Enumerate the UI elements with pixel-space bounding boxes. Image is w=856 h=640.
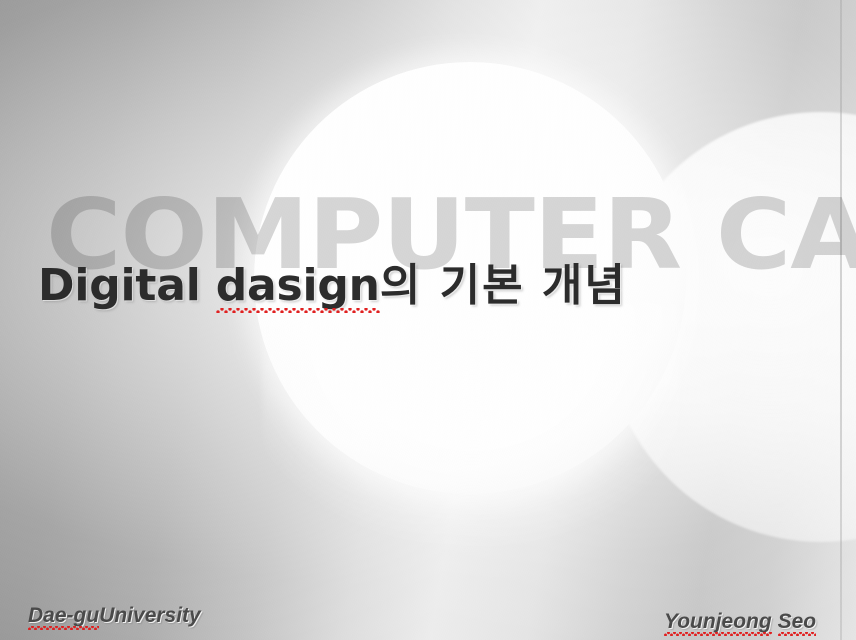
title-segment-hangul-rest: 기본 개념	[422, 260, 627, 311]
footer-author-last-name: Seo	[778, 610, 817, 634]
footer-author: Younjeong Seo	[664, 610, 816, 634]
footer-institution-misspelled: Dae-gu	[28, 604, 99, 628]
title-segment-hangul-suffix: 의	[380, 260, 422, 311]
footer-institution-rest: University	[99, 604, 201, 628]
presentation-slide: COMPUTER CAD Digital dasign의 기본 개념 Dae-g…	[0, 0, 856, 640]
footer-institution: Dae-gu University	[28, 604, 201, 628]
slide-background-grain	[0, 0, 856, 640]
title-segment-misspelled: dasign	[216, 262, 380, 310]
title-segment-latin: Digital	[38, 260, 216, 311]
slide-title: Digital dasign의 기본 개념	[38, 262, 627, 310]
footer-author-first-name: Younjeong	[664, 610, 772, 634]
